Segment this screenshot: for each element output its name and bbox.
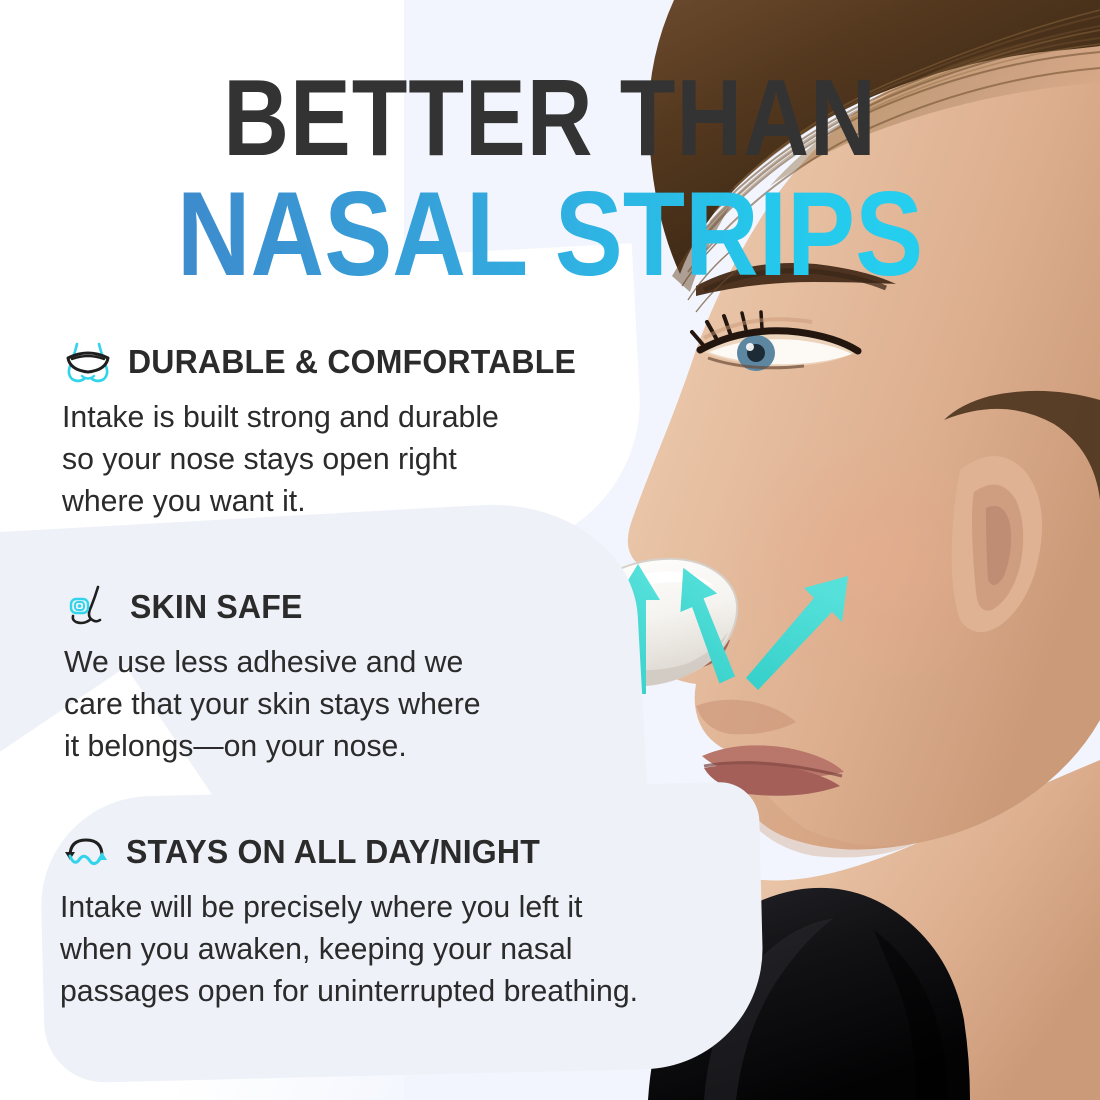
feature-block-skin-safe: SKIN SAFE We use less adhesive and we ca… (64, 585, 584, 767)
feature-block-stays-on: STAYS ON ALL DAY/NIGHT Intake will be pr… (60, 830, 700, 1012)
feature-heading: STAYS ON ALL DAY/NIGHT (60, 830, 700, 874)
feature-body: Intake is built strong and durable so yo… (62, 396, 618, 522)
feature-title: DURABLE & COMFORTABLE (128, 343, 576, 381)
feature-block-durable-comfortable: DURABLE & COMFORTABLE Intake is built st… (62, 340, 632, 522)
feature-heading: SKIN SAFE (64, 585, 584, 629)
feature-title: SKIN SAFE (130, 588, 302, 626)
feature-body: We use less adhesive and we care that yo… (64, 641, 571, 767)
nose-profile-skin-icon (64, 585, 116, 629)
feature-title: STAYS ON ALL DAY/NIGHT (126, 833, 540, 871)
feature-body: Intake will be precisely where you left … (60, 886, 684, 1012)
feature-heading: DURABLE & COMFORTABLE (62, 340, 632, 384)
nasal-dilator-icon (62, 340, 114, 384)
day-night-cycle-icon (60, 830, 112, 874)
promo-infographic: BETTER THAN NASAL STRIPS DURABLE & COMFO… (0, 0, 1100, 1100)
